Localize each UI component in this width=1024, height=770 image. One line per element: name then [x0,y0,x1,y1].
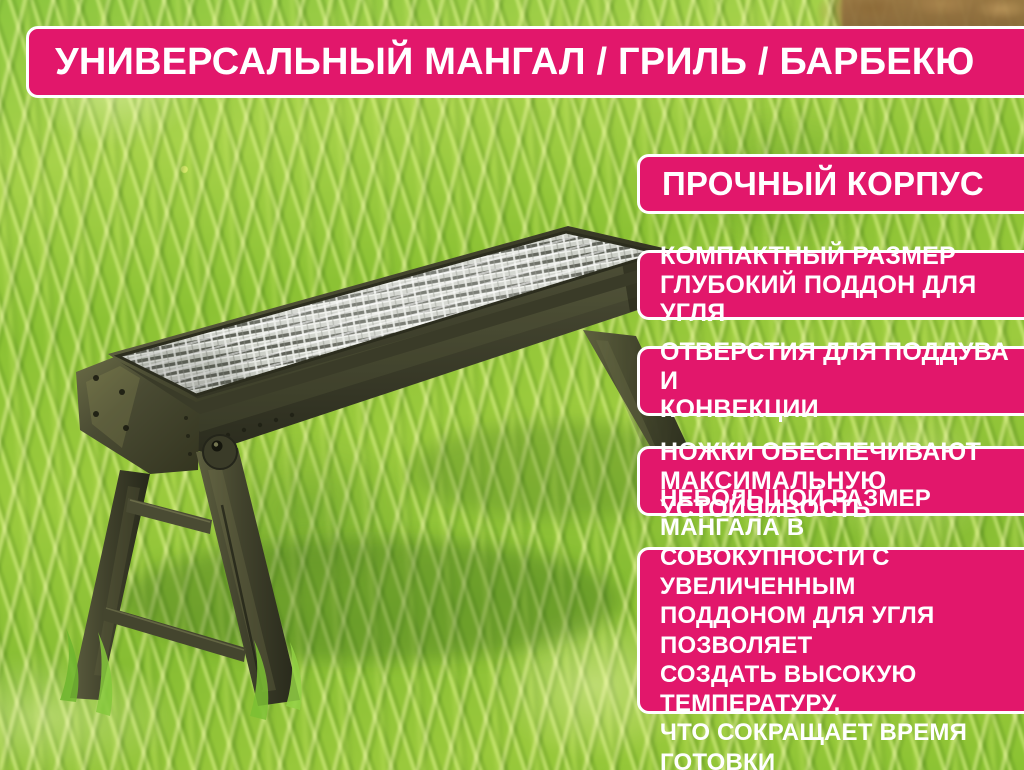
feature-vent-holes-line2: КОНВЕКЦИИ [660,395,1021,424]
feature-legs-stability-line1: НОЖКИ ОБЕСПЕЧИВАЮТ [660,438,1021,467]
feature-temp-benefit-line2: СОВОКУПНОСТИ С УВЕЛИЧЕННЫМ [660,543,1021,602]
feature-temp-benefit-line1: НЕБОЛЬШОЙ РАЗМЕР МАНГАЛА В [660,484,1021,543]
dirt-patch [842,0,1024,28]
promo-poster: УНИВЕРСАЛЬНЫЙ МАНГАЛ / ГРИЛЬ / БАРБЕКЮ П… [0,0,1024,770]
feature-vent-holes-line1: ОТВЕРСТИЯ ДЛЯ ПОДДУВА И [660,338,1021,395]
header-banner: УНИВЕРСАЛЬНЫЙ МАНГАЛ / ГРИЛЬ / БАРБЕКЮ [26,26,1024,98]
feature-callout-temperature-benefit: НЕБОЛЬШОЙ РАЗМЕР МАНГАЛА В СОВОКУПНОСТИ … [637,547,1024,714]
feature-callout-vent-holes: ОТВЕРСТИЯ ДЛЯ ПОДДУВА И КОНВЕКЦИИ [637,346,1024,416]
feature-temp-benefit-line4: СОЗДАТЬ ВЫСОКУЮ ТЕМПЕРАТУРУ, [660,660,1021,719]
poster-title: УНИВЕРСАЛЬНЫЙ МАНГАЛ / ГРИЛЬ / БАРБЕКЮ [55,43,975,81]
feature-strong-body-line1: ПРОЧНЫЙ КОРПУС [662,165,984,203]
feature-temp-benefit-line5: ЧТО СОКРАЩАЕТ ВРЕМЯ ГОТОВКИ [660,718,1021,770]
feature-compact-size-line2: ГЛУБОКИЙ ПОДДОН ДЛЯ УГЛЯ [660,271,1021,328]
feature-temp-benefit-line3: ПОДДОНОМ ДЛЯ УГЛЯ ПОЗВОЛЯЕТ [660,601,1021,660]
feature-callout-strong-body: ПРОЧНЫЙ КОРПУС [637,154,1024,214]
feature-callout-compact-size: КОМПАКТНЫЙ РАЗМЕР ГЛУБОКИЙ ПОДДОН ДЛЯ УГ… [637,250,1024,320]
feature-compact-size-line1: КОМПАКТНЫЙ РАЗМЕР [660,242,1021,271]
